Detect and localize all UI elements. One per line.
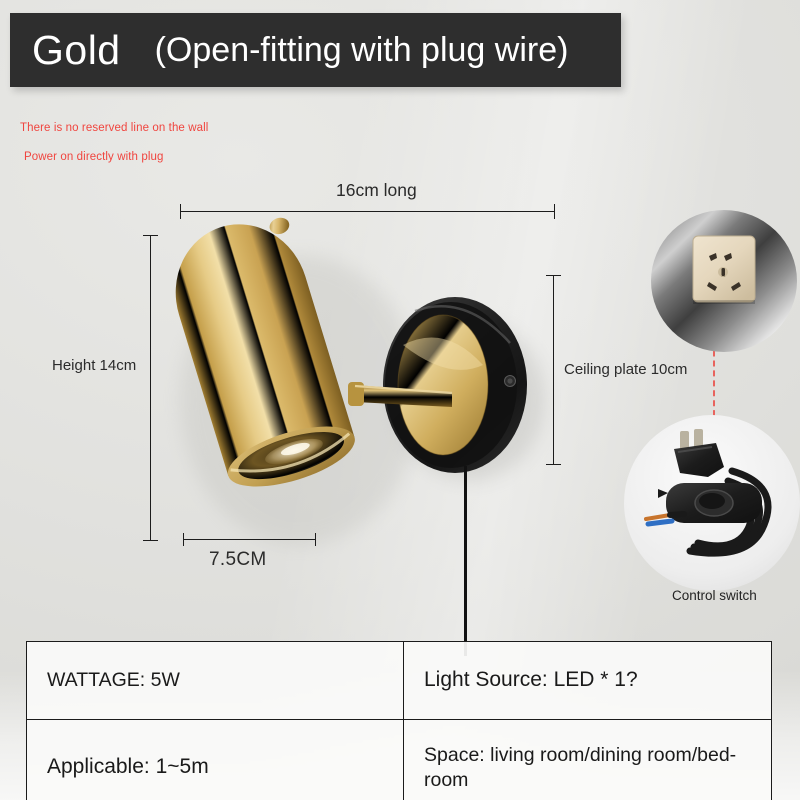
color-variant-title: Gold: [32, 30, 121, 71]
dim-line-width: [183, 539, 316, 540]
dim-label-length: 16cm long: [336, 180, 417, 201]
dim-line-plate: [553, 275, 554, 465]
control-switch-label: Control switch: [672, 588, 757, 603]
plug-and-inline-switch-photo: [624, 415, 800, 591]
spec-space-text: Space: living room/dining room/bed-room: [424, 743, 762, 792]
note-power-on-with-plug: Power on directly with plug: [24, 151, 164, 163]
fitting-type-subtitle: (Open-fitting with plug wire): [155, 33, 569, 67]
dim-cap-height-top: [143, 235, 158, 236]
spec-light-source-text: Light Source: LED * 1?: [424, 667, 638, 693]
black-power-cord: [464, 466, 467, 656]
spec-cell-wattage: WATTAGE: 5W: [27, 642, 404, 720]
dim-label-height: Height 14cm: [52, 357, 136, 374]
dim-line-height: [150, 235, 151, 541]
spec-cell-space: Space: living room/dining room/bed-room: [404, 720, 771, 800]
dim-cap-width-right: [315, 533, 316, 546]
dim-cap-length-right: [554, 204, 555, 219]
dim-cap-width-left: [183, 533, 184, 546]
spec-cell-light-source: Light Source: LED * 1?: [404, 642, 771, 720]
spec-wattage-text: WATTAGE: 5W: [47, 668, 180, 692]
wall-socket-photo: [651, 210, 797, 352]
specification-table: WATTAGE: 5W Light Source: LED * 1? Appli…: [26, 641, 772, 800]
header-banner: Gold (Open-fitting with plug wire): [10, 13, 621, 87]
spec-cell-applicable: Applicable: 1~5m: [27, 720, 404, 800]
dim-label-width: 7.5CM: [209, 549, 266, 571]
dim-cap-height-bottom: [143, 540, 158, 541]
dim-cap-plate-bottom: [546, 464, 561, 465]
note-no-reserved-line: There is no reserved line on the wall: [20, 122, 208, 134]
dim-cap-length-left: [180, 204, 181, 219]
spec-applicable-text: Applicable: 1~5m: [47, 754, 209, 780]
dim-cap-plate-top: [546, 275, 561, 276]
dim-line-length: [180, 211, 555, 212]
dim-label-ceiling-plate: Ceiling plate 10cm: [564, 361, 687, 378]
